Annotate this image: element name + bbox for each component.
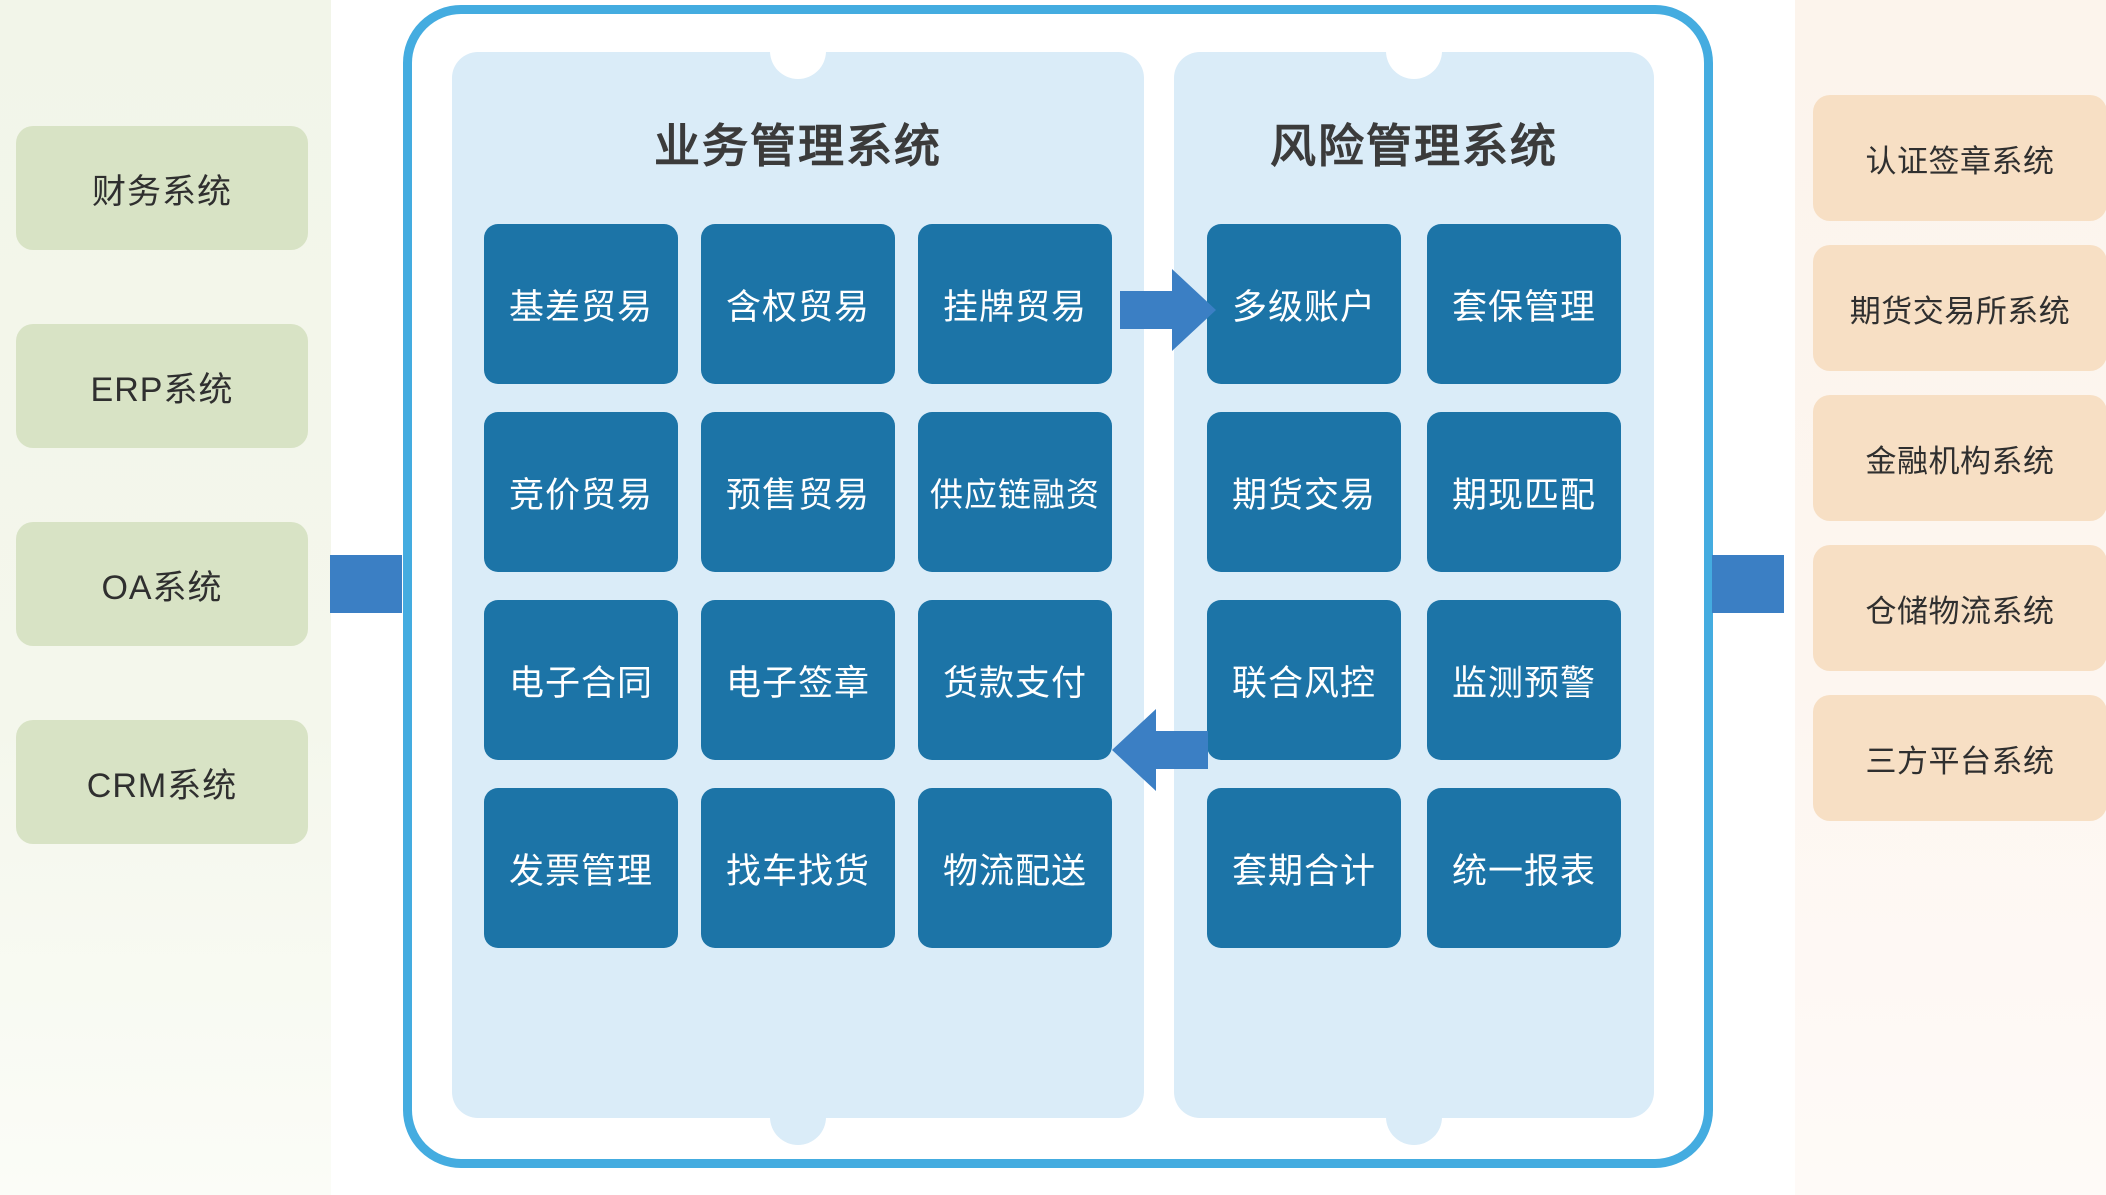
feature-card-label: 货款支付 (943, 655, 1087, 706)
connector-right (1712, 555, 1784, 613)
feature-card-taoqiheji[interactable]: 套期合计 (1207, 788, 1401, 948)
panel-tab-bottom-icon (770, 1117, 826, 1145)
feature-card-lianhefengkong[interactable]: 联合风控 (1207, 600, 1401, 760)
feature-card-label: 监测预警 (1452, 655, 1596, 706)
feature-card-label: 期现匹配 (1452, 467, 1596, 518)
panel-tab-bottom-icon (1386, 1117, 1442, 1145)
external-system-box-crm[interactable]: CRM系统 (16, 720, 308, 844)
external-system-box-certification[interactable]: 认证签章系统 (1813, 95, 2106, 221)
feature-card-label: 挂牌贸易 (943, 279, 1087, 330)
risk-panel-title: 风险管理系统 (1174, 110, 1654, 176)
card-row: 电子合同 电子签章 货款支付 (452, 600, 1144, 760)
external-systems-left-panel: 财务系统 ERP系统 OA系统 CRM系统 (0, 0, 331, 1195)
feature-card-label: 联合风控 (1232, 655, 1376, 706)
external-system-box-oa[interactable]: OA系统 (16, 522, 308, 646)
feature-card-label: 物流配送 (943, 843, 1087, 894)
external-system-label: 金融机构系统 (1866, 436, 2055, 481)
feature-card-label: 套期合计 (1232, 843, 1376, 894)
external-system-box-erp[interactable]: ERP系统 (16, 324, 308, 448)
feature-card-huokuanzhifu[interactable]: 货款支付 (918, 600, 1112, 760)
feature-card-tongyibaobiao[interactable]: 统一报表 (1427, 788, 1621, 948)
feature-card-zhaochezhaohuo[interactable]: 找车找货 (701, 788, 895, 948)
feature-card-label: 供应链融资 (930, 468, 1100, 516)
feature-card-jiancheyujing[interactable]: 监测预警 (1427, 600, 1621, 760)
feature-card-qixianpipei[interactable]: 期现匹配 (1427, 412, 1621, 572)
feature-card-dianzihetong[interactable]: 电子合同 (484, 600, 678, 760)
arrow-left-icon (1112, 706, 1208, 794)
feature-card-qihuojiaoyi[interactable]: 期货交易 (1207, 412, 1401, 572)
feature-card-jichamaoyi[interactable]: 基差贸易 (484, 224, 678, 384)
external-system-box-financial-institution[interactable]: 金融机构系统 (1813, 395, 2106, 521)
card-row: 多级账户 套保管理 (1174, 224, 1654, 384)
card-row: 基差贸易 含权贸易 挂牌贸易 (452, 224, 1144, 384)
business-panel-title: 业务管理系统 (452, 110, 1144, 176)
card-row: 套期合计 统一报表 (1174, 788, 1654, 948)
external-system-label: 期货交易所系统 (1850, 286, 2071, 331)
business-card-grid: 基差贸易 含权贸易 挂牌贸易 竞价贸易 预售贸易 供应链融资 (452, 224, 1144, 976)
external-systems-right-panel: 认证签章系统 期货交易所系统 金融机构系统 仓储物流系统 三方平台系统 (1795, 0, 2106, 1195)
external-system-label: ERP系统 (91, 362, 234, 411)
feature-card-label: 竞价贸易 (509, 467, 653, 518)
external-system-box-finance[interactable]: 财务系统 (16, 126, 308, 250)
external-system-label: 认证签章系统 (1866, 136, 2055, 181)
feature-card-label: 多级账户 (1232, 279, 1376, 330)
feature-card-guapaimaoyi[interactable]: 挂牌贸易 (918, 224, 1112, 384)
platform-container: 业务管理系统 基差贸易 含权贸易 挂牌贸易 竞价贸易 预售贸易 (403, 5, 1713, 1168)
external-system-label: 三方平台系统 (1866, 736, 2055, 781)
feature-card-wuliupeisong[interactable]: 物流配送 (918, 788, 1112, 948)
feature-card-fapiaoguanli[interactable]: 发票管理 (484, 788, 678, 948)
external-system-label: CRM系统 (87, 758, 237, 807)
external-system-box-futures-exchange[interactable]: 期货交易所系统 (1813, 245, 2106, 371)
panel-notch-top-icon (770, 51, 826, 79)
feature-card-taobaoguanli[interactable]: 套保管理 (1427, 224, 1621, 384)
external-system-box-warehouse-logistics[interactable]: 仓储物流系统 (1813, 545, 2106, 671)
feature-card-jingjiamaoyi[interactable]: 竞价贸易 (484, 412, 678, 572)
feature-card-label: 电子合同 (509, 655, 653, 706)
card-row: 联合风控 监测预警 (1174, 600, 1654, 760)
risk-card-grid: 多级账户 套保管理 期货交易 期现匹配 联合风控 监测预警 (1174, 224, 1654, 976)
external-system-label: OA系统 (101, 560, 222, 609)
connector-left (330, 555, 402, 613)
feature-card-label: 期货交易 (1232, 467, 1376, 518)
feature-card-label: 基差贸易 (509, 279, 653, 330)
feature-card-label: 套保管理 (1452, 279, 1596, 330)
card-row: 期货交易 期现匹配 (1174, 412, 1654, 572)
feature-card-duojizhanghu[interactable]: 多级账户 (1207, 224, 1401, 384)
feature-card-label: 统一报表 (1452, 843, 1596, 894)
feature-card-label: 含权贸易 (726, 279, 870, 330)
business-management-panel: 业务管理系统 基差贸易 含权贸易 挂牌贸易 竞价贸易 预售贸易 (452, 52, 1144, 1118)
feature-card-label: 预售贸易 (726, 467, 870, 518)
feature-card-label: 电子签章 (726, 655, 870, 706)
feature-card-label: 找车找货 (726, 843, 870, 894)
external-system-box-third-party-platform[interactable]: 三方平台系统 (1813, 695, 2106, 821)
external-system-label: 仓储物流系统 (1866, 586, 2055, 631)
card-row: 发票管理 找车找货 物流配送 (452, 788, 1144, 948)
feature-card-gongyinglianrongzi[interactable]: 供应链融资 (918, 412, 1112, 572)
feature-card-label: 发票管理 (509, 843, 653, 894)
external-system-label: 财务系统 (92, 164, 232, 213)
feature-card-dianziqianzhang[interactable]: 电子签章 (701, 600, 895, 760)
feature-card-yushoumaoyi[interactable]: 预售贸易 (701, 412, 895, 572)
card-row: 竞价贸易 预售贸易 供应链融资 (452, 412, 1144, 572)
feature-card-hanquanmaoyi[interactable]: 含权贸易 (701, 224, 895, 384)
risk-management-panel: 风险管理系统 多级账户 套保管理 期货交易 期现匹配 联 (1174, 52, 1654, 1118)
arrow-right-icon (1120, 266, 1216, 354)
panel-notch-top-icon (1386, 51, 1442, 79)
